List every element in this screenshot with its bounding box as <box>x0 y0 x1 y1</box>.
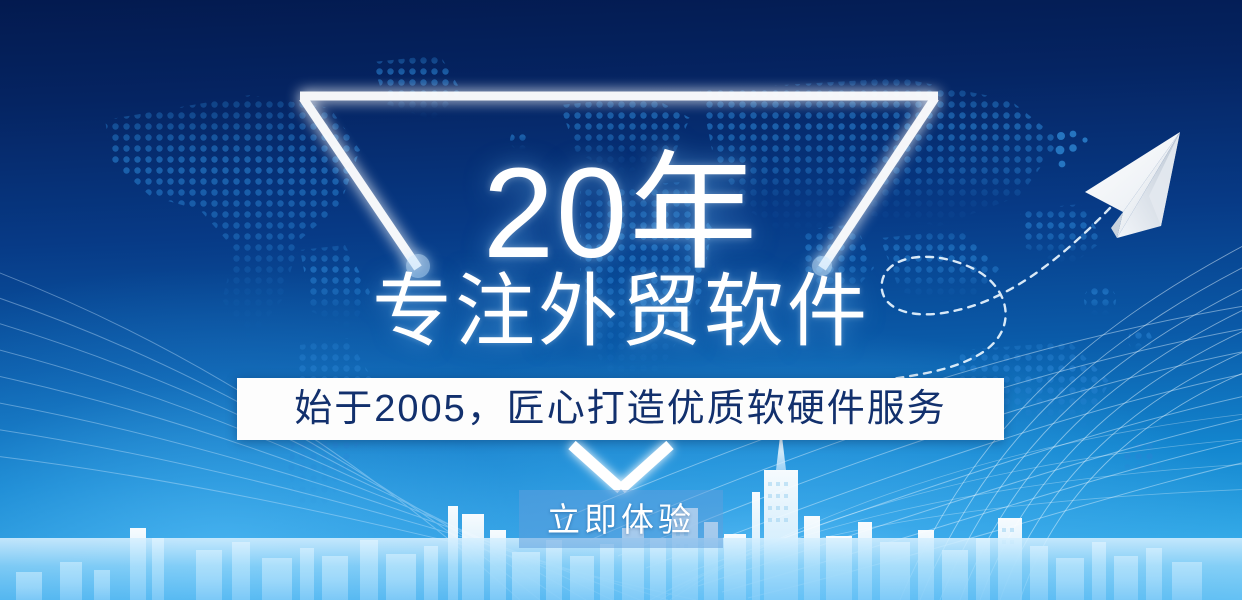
headline-years: 20年 <box>0 150 1242 278</box>
chevron-down-icon <box>566 443 676 495</box>
headline-subtitle: 专注外贸软件 <box>0 272 1242 352</box>
tagline-text: 始于2005，匠心打造优质软硬件服务 <box>294 390 947 428</box>
tagline-box: 始于2005，匠心打造优质软硬件服务 <box>237 378 1004 440</box>
cta-button-label: 立即体验 <box>547 503 695 536</box>
promo-banner: 20年 专注外贸软件 始于2005，匠心打造优质软硬件服务 立即体验 <box>0 0 1242 600</box>
banner-content: 20年 专注外贸软件 始于2005，匠心打造优质软硬件服务 立即体验 <box>0 0 1242 600</box>
cta-button[interactable]: 立即体验 <box>519 490 723 548</box>
